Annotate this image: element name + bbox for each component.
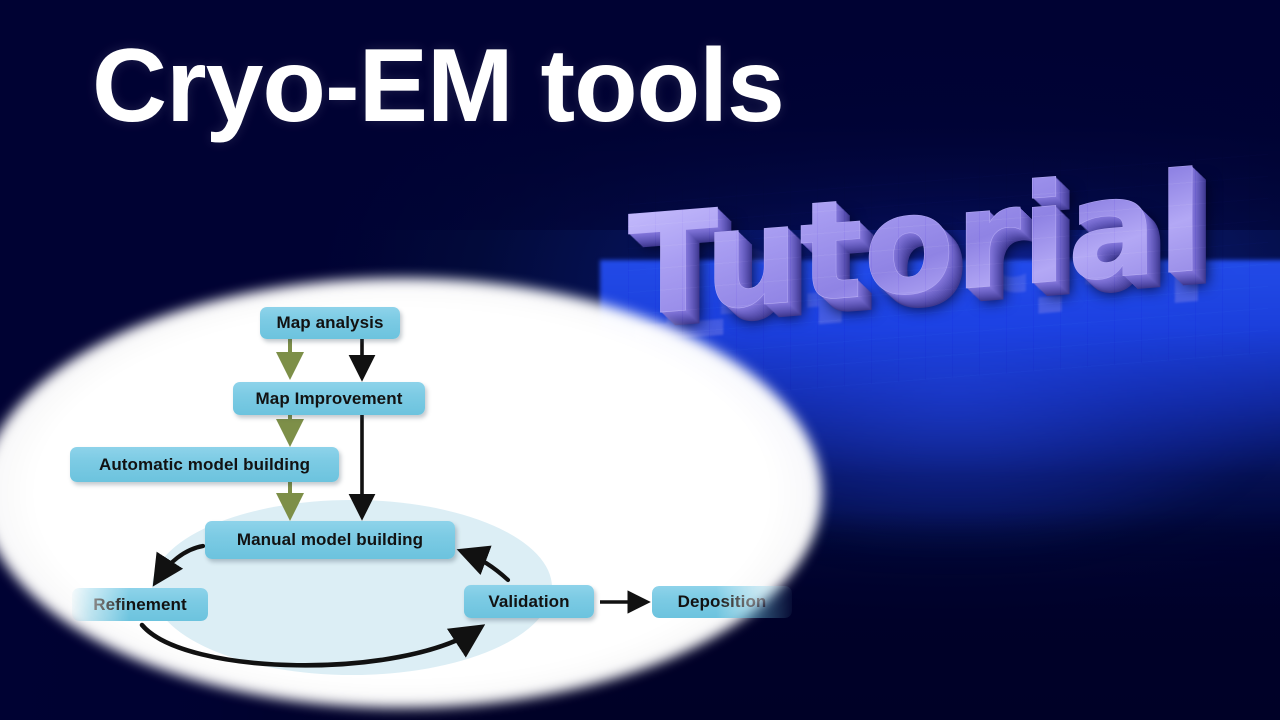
node-validation[interactable]: Validation (464, 585, 594, 618)
edge-validation-to-manual-build (464, 552, 508, 580)
workflow-diagram: Map analysis Map Improvement Automatic m… (0, 0, 1280, 720)
node-refinement[interactable]: Refinement (72, 588, 208, 621)
presentation-slide: Tutorial Tutorial Tutorial Cryo-EM tools (0, 0, 1280, 720)
node-map-improvement[interactable]: Map Improvement (233, 382, 425, 415)
node-automatic-model-building[interactable]: Automatic model building (70, 447, 339, 482)
edge-refinement-to-validation (142, 625, 478, 665)
node-manual-model-building[interactable]: Manual model building (205, 521, 455, 559)
edge-manual-build-to-refinement (157, 546, 203, 580)
node-map-analysis[interactable]: Map analysis (260, 307, 400, 339)
node-deposition[interactable]: Deposition (652, 586, 792, 618)
